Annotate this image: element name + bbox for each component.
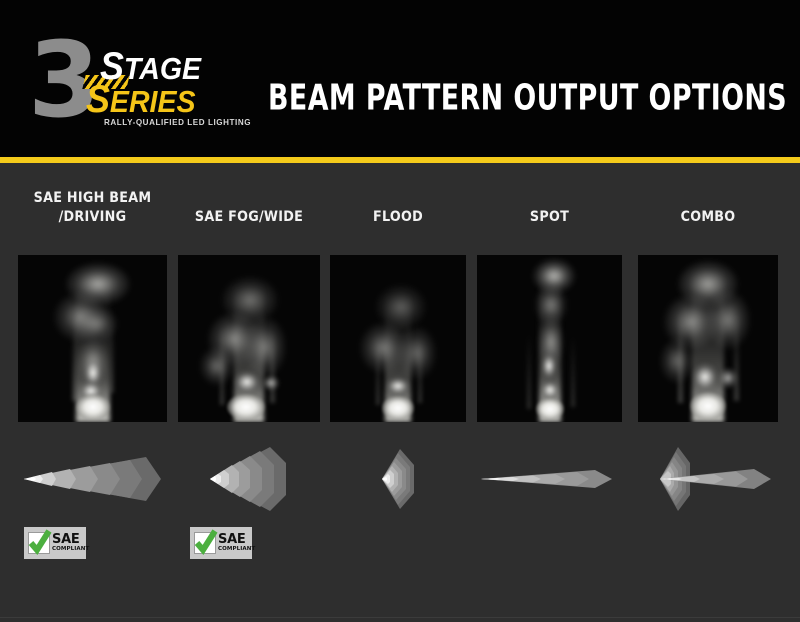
column-title-sae-fog-wide: SAE FOG/WIDE	[187, 208, 312, 227]
beam-pattern-poster: 3 STAGE SERIES RALLY-QUALIFIED LED LIGHT…	[0, 0, 800, 622]
logo-tagline: RALLY-QUALIFIED LED LIGHTING	[104, 117, 251, 127]
column-combo: COMBO	[638, 163, 778, 618]
sae-badge-sub: COMPLIANT	[218, 546, 255, 553]
column-flood: FLOOD	[330, 163, 466, 618]
beam-photo-sae-fog-wide	[178, 255, 320, 422]
beam-diagram-driving	[18, 443, 167, 515]
beam-photo-spot	[477, 255, 622, 422]
logo-word-stage: STAGE	[100, 51, 201, 84]
sae-compliant-badge-column1: SAE COMPLIANT	[24, 527, 86, 559]
beam-photo-sae-high-beam-driving	[18, 255, 167, 422]
poster-header: 3 STAGE SERIES RALLY-QUALIFIED LED LIGHT…	[0, 0, 800, 157]
column-sae-high-beam-driving: SAE HIGH BEAM /DRIVING	[18, 163, 167, 618]
column-title-line1: SAE FOG/WIDE	[187, 208, 312, 227]
logo-series-cap: S	[86, 78, 110, 121]
column-title-line2: /DRIVING	[27, 208, 158, 227]
beam-diagram-spot	[477, 443, 622, 515]
column-title-line1: SAE HIGH BEAM	[27, 189, 158, 208]
column-title-sae-high-beam-driving: SAE HIGH BEAM /DRIVING	[27, 189, 158, 227]
beam-columns-board: SAE HIGH BEAM /DRIVING	[0, 163, 800, 618]
beam-diagram-combo	[638, 443, 778, 515]
beam-diagram-flood	[330, 443, 466, 515]
beam-photo-flood	[330, 255, 466, 422]
logo-stage-rest: TAGE	[124, 51, 201, 86]
sae-badge-word: SAE	[52, 533, 87, 546]
checkbox-icon	[28, 532, 50, 554]
beam-diagram-wide	[178, 443, 320, 515]
column-spot: SPOT	[477, 163, 622, 618]
page-title: BEAM PATTERN OUTPUT OPTIONS	[268, 78, 787, 116]
column-title-line1: FLOOD	[338, 208, 458, 227]
column-title-combo: COMBO	[646, 208, 769, 227]
stage-series-logo: 3 STAGE SERIES RALLY-QUALIFIED LED LIGHT…	[28, 34, 258, 134]
bottom-divider	[0, 617, 800, 618]
sae-badge-word: SAE	[218, 533, 253, 546]
sae-compliant-badge-column2: SAE COMPLIANT	[190, 527, 252, 559]
column-title-line1: SPOT	[486, 208, 614, 227]
logo-word-series: SERIES	[86, 84, 196, 117]
column-sae-fog-wide: SAE FOG/WIDE	[178, 163, 320, 618]
sae-badge-sub: COMPLIANT	[52, 546, 89, 553]
checkbox-icon	[194, 532, 216, 554]
column-title-flood: FLOOD	[338, 208, 458, 227]
column-title-spot: SPOT	[486, 208, 614, 227]
column-title-line1: COMBO	[646, 208, 769, 227]
beam-photo-combo	[638, 255, 778, 422]
logo-series-rest: ERIES	[110, 84, 196, 119]
